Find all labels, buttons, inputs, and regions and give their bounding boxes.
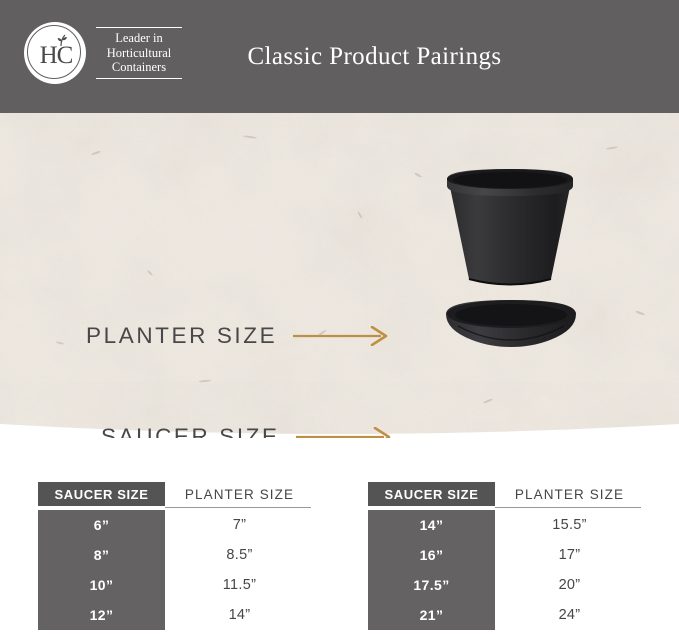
table-row: 17.5” — [368, 570, 495, 600]
brand-tagline-line-1: Leader in — [98, 31, 180, 46]
hc-circle-logo-icon: HC — [24, 22, 86, 84]
hero-panel: PLANTER SIZE SAUCER SIZE — [0, 113, 679, 438]
column-header-saucer-size: SAUCER SIZE — [368, 482, 495, 506]
table-row: 10” — [38, 570, 165, 600]
callout-saucer-size: SAUCER SIZE — [101, 424, 392, 438]
brand-tagline-line-3: Containers — [98, 60, 180, 75]
callout-planter-size: PLANTER SIZE — [86, 323, 389, 349]
size-table-right: SAUCER SIZE PLANTER SIZE 14” 15.5” 16” 1… — [368, 482, 644, 634]
table-row: 11.5” — [165, 570, 314, 600]
column-header-saucer-size: SAUCER SIZE — [38, 482, 165, 506]
table-row: 15.5” — [495, 510, 644, 540]
leaf-sprout-icon — [54, 34, 70, 47]
table-row: 6” — [38, 510, 165, 540]
callout-saucer-size-label: SAUCER SIZE — [101, 424, 280, 438]
table-row: 21” — [368, 600, 495, 630]
size-table-left: SAUCER SIZE PLANTER SIZE 6” 7” 8” 8.5” 1… — [38, 482, 314, 634]
table-row: 14” — [165, 600, 314, 630]
table-row: 7” — [165, 510, 314, 540]
black-saucer-dish-icon — [444, 296, 578, 353]
right-arrow-icon — [296, 427, 392, 438]
brand-lockup: HC Leader in Horticultural Containers — [24, 22, 182, 84]
column-header-planter-size: PLANTER SIZE — [495, 482, 644, 506]
brand-tagline: Leader in Horticultural Containers — [96, 27, 182, 79]
table-row: 20” — [495, 570, 644, 600]
table-row: 12” — [38, 600, 165, 630]
table-row: 17” — [495, 540, 644, 570]
right-arrow-icon — [293, 326, 389, 346]
table-row: 16” — [368, 540, 495, 570]
table-row: 8.5” — [165, 540, 314, 570]
table-row: 8” — [38, 540, 165, 570]
column-header-planter-size: PLANTER SIZE — [165, 482, 314, 506]
brand-tagline-line-2: Horticultural — [98, 46, 180, 61]
page-header: HC Leader in Horticultural Containers Cl… — [0, 0, 679, 113]
table-row: 14” — [368, 510, 495, 540]
black-planter-pot-icon — [443, 167, 578, 290]
callout-planter-size-label: PLANTER SIZE — [86, 323, 277, 349]
table-row: 24” — [495, 600, 644, 630]
